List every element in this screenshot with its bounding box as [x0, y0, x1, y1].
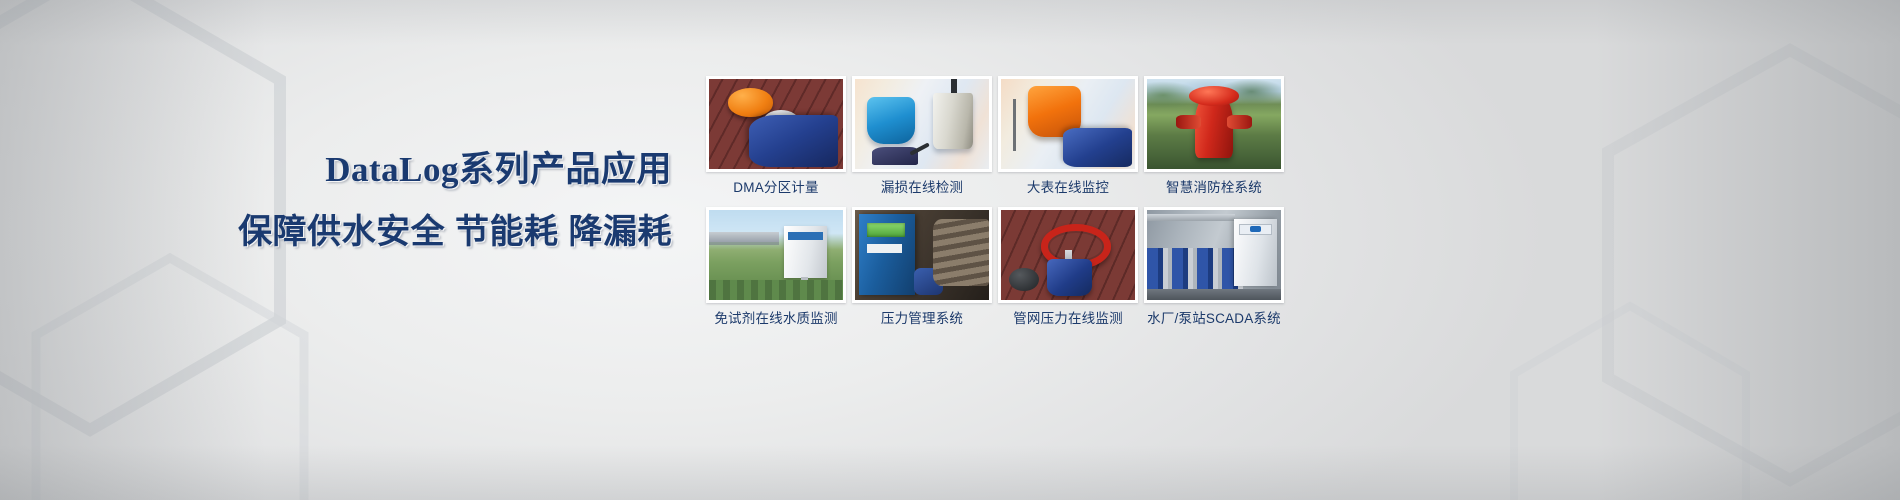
valve-stem-shape	[1065, 250, 1072, 268]
hexagon-watermark-icon	[1590, 40, 1900, 490]
product-caption: 大表在线监控	[998, 180, 1138, 196]
product-caption: 压力管理系统	[852, 311, 992, 327]
headline-line-1: DataLog系列产品应用	[0, 150, 672, 190]
hexagon-watermark-icon	[1500, 300, 1760, 500]
headline-line-1-latin: DataLog	[325, 150, 459, 189]
label-plate-shape	[867, 244, 902, 253]
antenna-shape	[1013, 99, 1016, 151]
headline-block: DataLog系列产品应用 保障供水安全 节能耗 降漏耗	[0, 150, 672, 252]
product-caption: 管网压力在线监测	[984, 311, 1152, 327]
product-caption: 免试剂在线水质监测	[692, 311, 860, 327]
product-card-pressure-management[interactable]: 压力管理系统	[852, 207, 992, 327]
product-card-smart-fire-hydrant[interactable]: 智慧消防栓系统	[1144, 76, 1284, 196]
hydrant-nozzle-right-shape	[1227, 115, 1251, 129]
support-post-shape	[801, 277, 808, 297]
headline-line-1-cjk: 系列产品应用	[459, 150, 672, 189]
product-card-dma-partition-metering[interactable]: DMA分区计量	[706, 76, 846, 196]
grid-row-2: 免试剂在线水质监测 压力管理系统	[706, 207, 1286, 327]
grid-row-1: DMA分区计量 漏损在线检测	[706, 76, 1286, 196]
product-caption: 智慧消防栓系统	[1130, 180, 1298, 196]
chamber-cap-shape	[1009, 268, 1038, 291]
hydrant-cap-shape	[1189, 86, 1240, 106]
product-thumbnail-grid: DMA分区计量 漏损在线检测	[706, 76, 1286, 327]
dma-partition-metering-photo	[709, 79, 843, 169]
meter-cap-shape	[763, 110, 799, 133]
thumbnail-frame[interactable]	[1144, 76, 1284, 172]
product-card-large-meter-monitoring[interactable]: 大表在线监控	[998, 76, 1138, 196]
thumbnail-frame[interactable]	[706, 207, 846, 303]
meter-dial-shape	[1081, 131, 1110, 158]
product-card-pipe-network-pressure[interactable]: 管网压力在线监测	[998, 207, 1138, 327]
hexagon-watermark-icon	[20, 250, 320, 500]
large-meter-monitoring-photo	[1001, 79, 1135, 169]
thumbnail-frame[interactable]	[706, 76, 846, 172]
product-card-reagent-free-water-quality[interactable]: 免试剂在线水质监测	[706, 207, 846, 327]
reagent-free-water-quality-photo	[709, 210, 843, 300]
thumbnail-frame[interactable]	[998, 207, 1138, 303]
product-caption: 漏损在线检测	[852, 180, 992, 196]
headline-line-2: 保障供水安全 节能耗 降漏耗	[0, 212, 672, 252]
pressure-management-photo	[855, 210, 989, 300]
meter-stem-shape	[772, 122, 789, 163]
product-caption: 水厂/泵站SCADA系统	[1130, 311, 1298, 327]
product-caption: DMA分区计量	[706, 180, 846, 196]
pipe-network-pressure-photo	[1001, 210, 1135, 300]
thumbnail-frame[interactable]	[852, 207, 992, 303]
thumbnail-frame[interactable]	[852, 76, 992, 172]
antenna-shape	[951, 79, 956, 101]
company-logo-icon	[1250, 226, 1261, 232]
valve-shape	[914, 268, 943, 295]
overhead-pipe-shape	[1147, 214, 1235, 221]
thumbnail-frame[interactable]	[1144, 207, 1284, 303]
thumbnail-frame[interactable]	[998, 76, 1138, 172]
hydrant-nozzle-left-shape	[1176, 115, 1200, 129]
controller-display-shape	[867, 223, 905, 237]
product-card-waterworks-scada[interactable]: 水厂/泵站SCADA系统	[1144, 207, 1284, 327]
waterworks-scada-photo	[1147, 210, 1281, 300]
signboard-shape	[788, 232, 823, 240]
leak-online-detection-photo	[855, 79, 989, 169]
promo-banner: DataLog系列产品应用 保障供水安全 节能耗 降漏耗 DMA分区计量	[0, 0, 1900, 500]
product-card-leak-online-detection[interactable]: 漏损在线检测	[852, 76, 992, 196]
smart-fire-hydrant-photo	[1147, 79, 1281, 169]
